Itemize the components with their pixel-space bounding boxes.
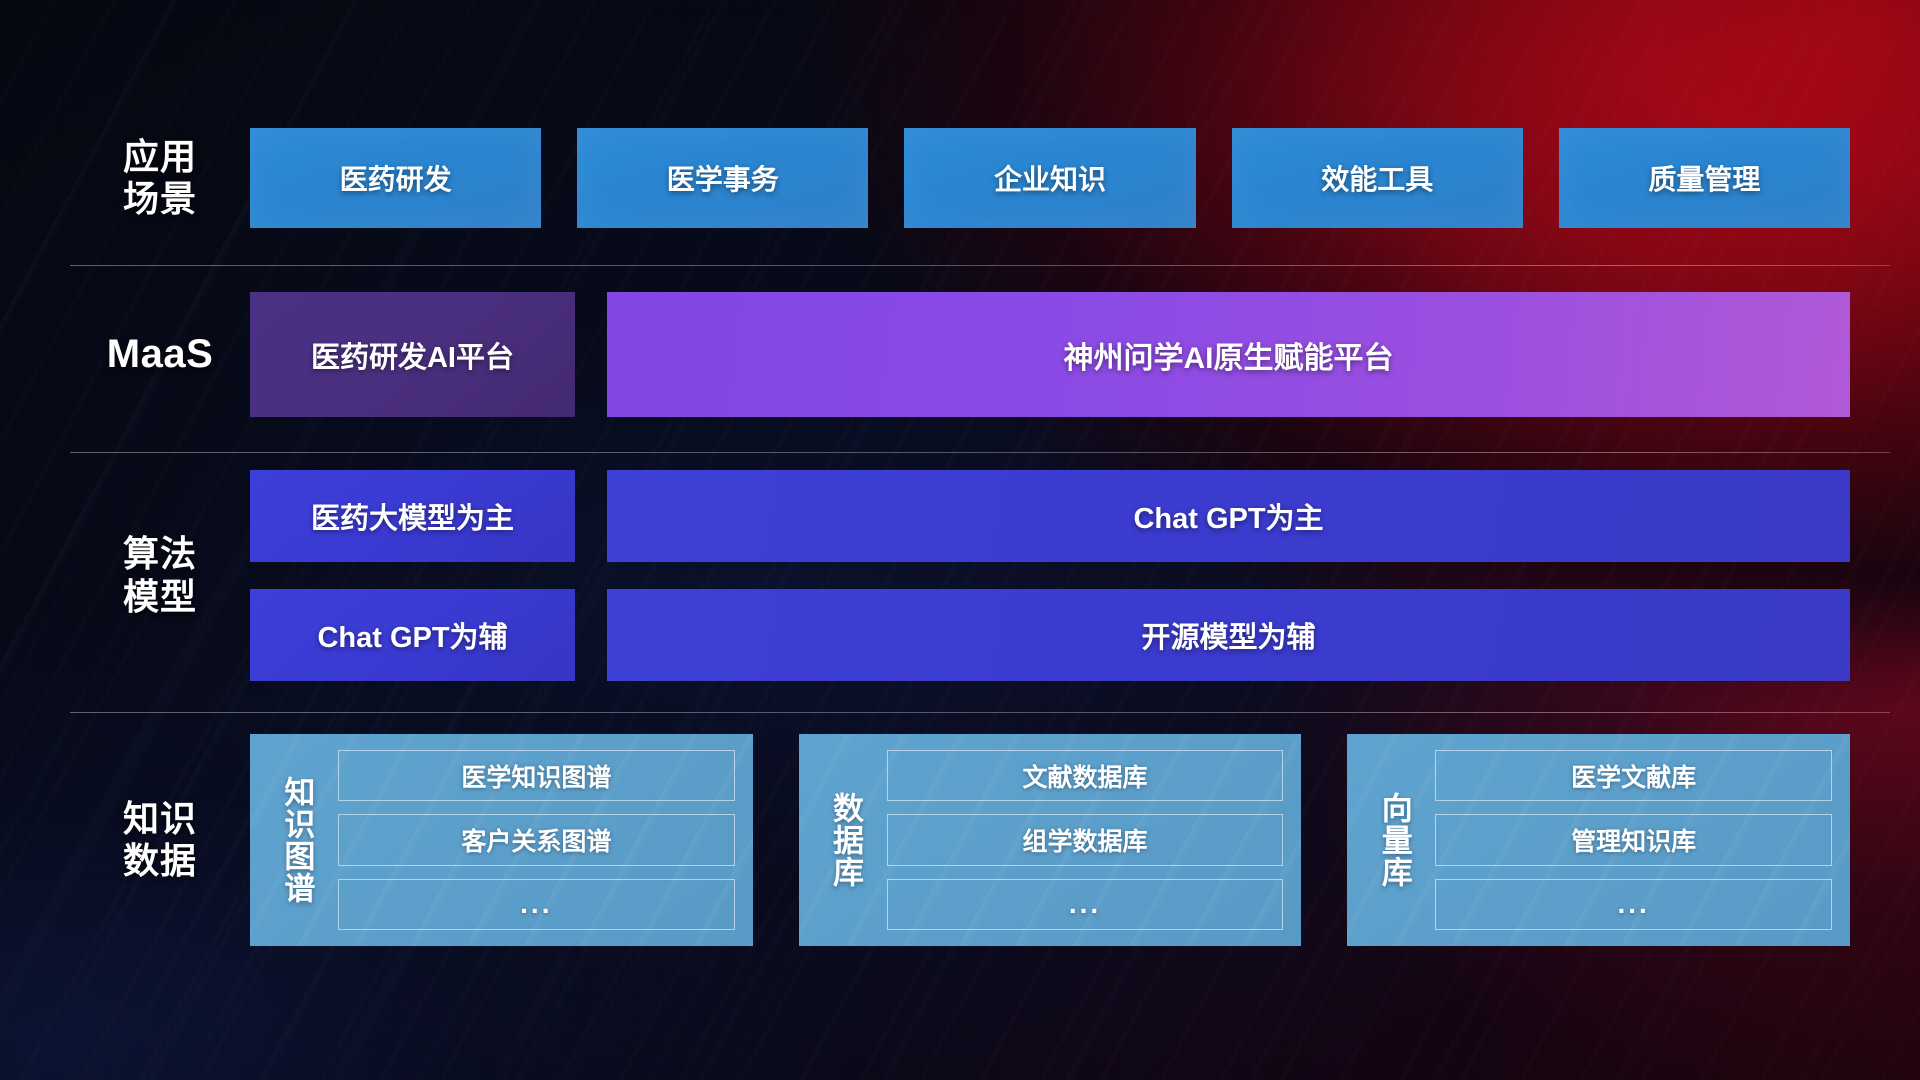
app-box-medical-affairs[interactable]: 医学事务 bbox=[577, 128, 868, 228]
diagram-content: 应用 场景 医药研发 医学事务 企业知识 效能工具 质量管理 MaaS 医药研发… bbox=[0, 0, 1920, 1080]
knowledge-items-vector-store: 医学文献库 管理知识库 ... bbox=[1435, 750, 1832, 930]
knowledge-group-title-database: 数据库 bbox=[817, 750, 873, 930]
row-label-application-scenarios: 应用 场景 bbox=[70, 136, 250, 221]
knowledge-items-database: 文献数据库 组学数据库 ... bbox=[887, 750, 1284, 930]
knowledge-item-management-knowledge-store[interactable]: 管理知识库 bbox=[1435, 814, 1832, 865]
knowledge-item-more-database[interactable]: ... bbox=[887, 879, 1284, 930]
knowledge-item-customer-relation-graph[interactable]: 客户关系图谱 bbox=[338, 814, 735, 865]
knowledge-items-knowledge-graph: 医学知识图谱 客户关系图谱 ... bbox=[338, 750, 735, 930]
algorithm-boxes-container: 医药大模型为主 Chat GPT为主 Chat GPT为辅 开源模型为辅 bbox=[250, 470, 1850, 681]
knowledge-item-more-knowledge-graph[interactable]: ... bbox=[338, 879, 735, 930]
divider-maas-algorithm bbox=[70, 452, 1890, 453]
knowledge-item-literature-database[interactable]: 文献数据库 bbox=[887, 750, 1284, 801]
row-label-knowledge-data: 知识 数据 bbox=[70, 798, 250, 883]
knowledge-item-more-vector-store[interactable]: ... bbox=[1435, 879, 1832, 930]
algo-box-chatgpt-primary[interactable]: Chat GPT为主 bbox=[607, 470, 1850, 562]
knowledge-item-omics-database[interactable]: 组学数据库 bbox=[887, 814, 1284, 865]
knowledge-group-database[interactable]: 数据库 文献数据库 组学数据库 ... bbox=[799, 734, 1302, 946]
knowledge-item-medical-knowledge-graph[interactable]: 医学知识图谱 bbox=[338, 750, 735, 801]
maas-box-pharma-ai-platform[interactable]: 医药研发AI平台 bbox=[250, 292, 575, 417]
app-box-enterprise-knowledge[interactable]: 企业知识 bbox=[904, 128, 1195, 228]
row-knowledge-data: 知识 数据 知识图谱 医学知识图谱 客户关系图谱 ... 数据库 文献数据库 组… bbox=[70, 734, 1850, 946]
algorithm-row-secondary: Chat GPT为辅 开源模型为辅 bbox=[250, 589, 1850, 681]
app-box-pharma-rnd[interactable]: 医药研发 bbox=[250, 128, 541, 228]
knowledge-item-medical-literature-store[interactable]: 医学文献库 bbox=[1435, 750, 1832, 801]
algo-box-opensource-secondary[interactable]: 开源模型为辅 bbox=[607, 589, 1850, 681]
algorithm-row-primary: 医药大模型为主 Chat GPT为主 bbox=[250, 470, 1850, 562]
row-label-algorithm-models: 算法 模型 bbox=[70, 533, 250, 618]
knowledge-group-knowledge-graph[interactable]: 知识图谱 医学知识图谱 客户关系图谱 ... bbox=[250, 734, 753, 946]
divider-algorithm-knowledge bbox=[70, 712, 1890, 713]
row-maas: MaaS 医药研发AI平台 神州问学AI原生赋能平台 bbox=[70, 292, 1850, 417]
application-boxes-container: 医药研发 医学事务 企业知识 效能工具 质量管理 bbox=[250, 128, 1850, 228]
app-box-quality-management[interactable]: 质量管理 bbox=[1559, 128, 1850, 228]
row-application-scenarios: 应用 场景 医药研发 医学事务 企业知识 效能工具 质量管理 bbox=[70, 128, 1850, 228]
knowledge-group-title-vector-store: 向量库 bbox=[1365, 750, 1421, 930]
algo-box-pharma-llm-primary[interactable]: 医药大模型为主 bbox=[250, 470, 575, 562]
row-algorithm-models: 算法 模型 医药大模型为主 Chat GPT为主 Chat GPT为辅 开源模型… bbox=[70, 470, 1850, 681]
divider-application-maas bbox=[70, 265, 1890, 266]
knowledge-group-vector-store[interactable]: 向量库 医学文献库 管理知识库 ... bbox=[1347, 734, 1850, 946]
knowledge-group-title-knowledge-graph: 知识图谱 bbox=[268, 750, 324, 930]
maas-boxes-container: 医药研发AI平台 神州问学AI原生赋能平台 bbox=[250, 292, 1850, 417]
knowledge-groups-container: 知识图谱 医学知识图谱 客户关系图谱 ... 数据库 文献数据库 组学数据库 .… bbox=[250, 734, 1850, 946]
row-label-maas: MaaS bbox=[70, 331, 250, 378]
maas-box-shenzhou-wenxue-platform[interactable]: 神州问学AI原生赋能平台 bbox=[607, 292, 1850, 417]
architecture-diagram: 应用 场景 医药研发 医学事务 企业知识 效能工具 质量管理 MaaS 医药研发… bbox=[0, 0, 1920, 1080]
app-box-efficiency-tools[interactable]: 效能工具 bbox=[1232, 128, 1523, 228]
algo-box-chatgpt-secondary[interactable]: Chat GPT为辅 bbox=[250, 589, 575, 681]
